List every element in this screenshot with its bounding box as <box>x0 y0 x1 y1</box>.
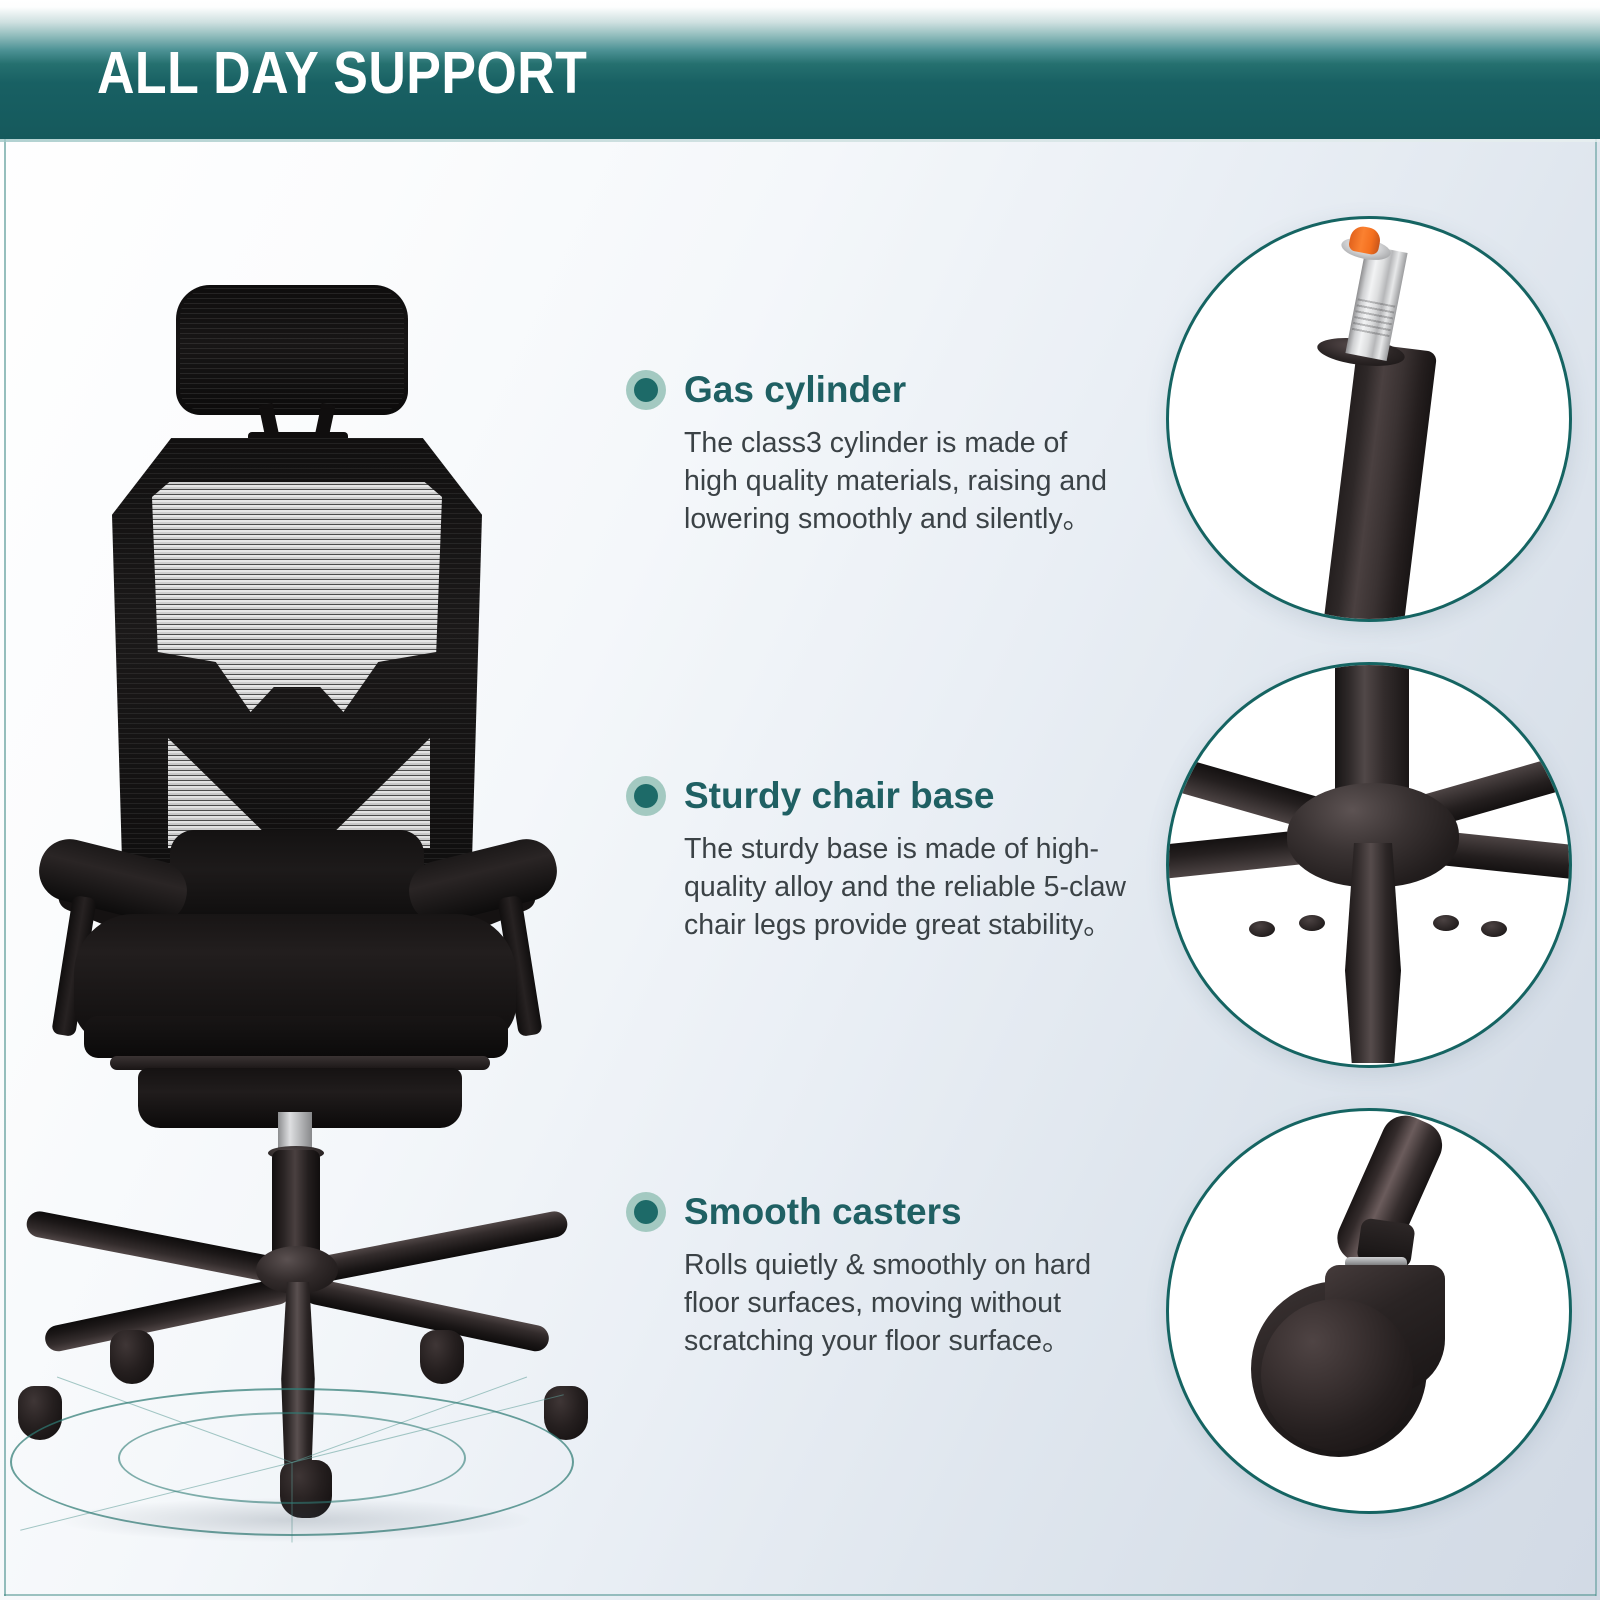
base-leg-rear-left <box>24 1209 292 1286</box>
feature-heading-row: Sturdy chair base <box>626 776 1126 816</box>
caster-socket-4 <box>1481 921 1507 937</box>
bullet-core <box>634 1200 658 1224</box>
detail-photo-caster-wheel <box>1166 1108 1572 1514</box>
base-leg-front-left <box>43 1276 293 1353</box>
feature-block-smooth-casters: Smooth casters Rolls quietly & smoothly … <box>626 1192 1126 1360</box>
base-leg-rear-right <box>302 1209 570 1286</box>
feature-heading-row: Gas cylinder <box>626 370 1126 410</box>
caster-wheel-2 <box>110 1330 154 1384</box>
caster-socket-1 <box>1249 921 1275 937</box>
feature-description: Rolls quietly & smoothly on hard floor s… <box>684 1246 1126 1360</box>
feature-title: Gas cylinder <box>684 370 906 410</box>
base-detail-leg-5 <box>1345 843 1401 1063</box>
product-feature-infographic: ALL DAY SUPPORT <box>0 0 1600 1600</box>
detail-photo-gas-cylinder <box>1166 216 1572 622</box>
headrest-mesh-texture <box>180 288 404 410</box>
feature-heading-row: Smooth casters <box>626 1192 1126 1232</box>
feature-description: The sturdy base is made of high-quality … <box>684 830 1126 944</box>
office-chair-product-image <box>0 150 630 1480</box>
piston-rod-printed-label <box>1352 298 1396 339</box>
chair-ground-shadow <box>60 1498 530 1542</box>
frame-line-right <box>1595 138 1597 1596</box>
feature-title: Smooth casters <box>684 1192 962 1232</box>
feature-block-gas-cylinder: Gas cylinder The class3 cylinder is made… <box>626 370 1126 538</box>
feature-block-sturdy-chair-base: Sturdy chair base The sturdy base is mad… <box>626 776 1126 944</box>
detail-photo-chair-base <box>1166 662 1572 1068</box>
feature-title: Sturdy chair base <box>684 776 995 816</box>
caster-socket-2 <box>1299 915 1325 931</box>
feature-description: The class3 cylinder is made of high qual… <box>684 424 1126 538</box>
banner-underline <box>0 139 1600 142</box>
page-title: ALL DAY SUPPORT <box>97 44 587 103</box>
filled-circle-bullet-icon <box>626 370 666 410</box>
gas-cylinder-orange-tip <box>1348 224 1382 255</box>
seat-underside <box>84 1016 508 1058</box>
filled-circle-bullet-icon <box>626 776 666 816</box>
frame-line-bottom <box>4 1594 1596 1596</box>
filled-circle-bullet-icon <box>626 1192 666 1232</box>
bullet-core <box>634 378 658 402</box>
bullet-core <box>634 784 658 808</box>
caster-detail-wheel-front <box>1261 1299 1413 1451</box>
caster-socket-3 <box>1433 915 1459 931</box>
header-banner: ALL DAY SUPPORT <box>0 0 1600 139</box>
gas-cylinder-tube <box>1321 342 1437 622</box>
gas-cylinder-piston-rod <box>1345 245 1407 361</box>
caster-wheel-3 <box>420 1330 464 1384</box>
